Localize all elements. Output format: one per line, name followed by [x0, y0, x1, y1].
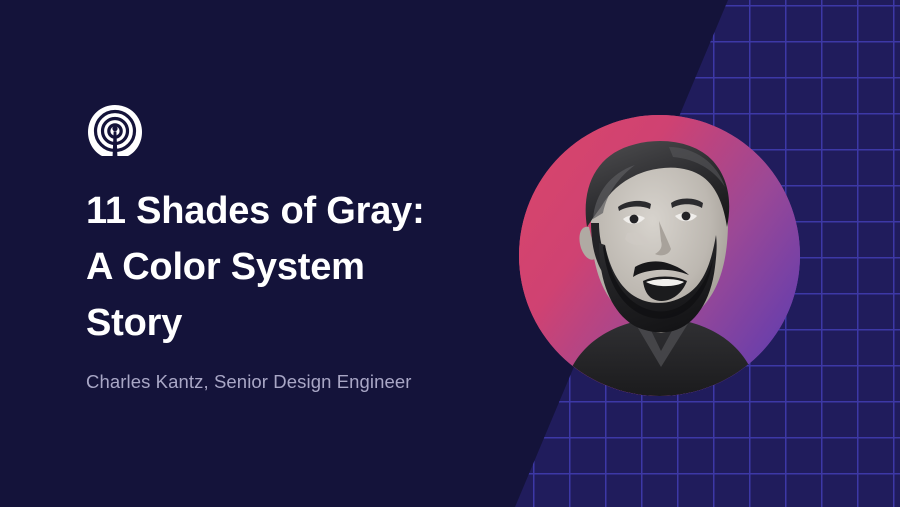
slide-title-line: 11 Shades of Gray: [86, 183, 506, 239]
slide-title: 11 Shades of Gray: A Color System Story [86, 183, 506, 351]
broadcast-antenna-logo [86, 103, 144, 161]
speaker-byline: Charles Kantz, Senior Design Engineer [86, 369, 412, 395]
speaker-avatar [519, 115, 800, 396]
slide-title-line: Story [86, 295, 506, 351]
slide-title-line: A Color System [86, 239, 506, 295]
title-slide: 11 Shades of Gray: A Color System Story … [0, 0, 900, 507]
